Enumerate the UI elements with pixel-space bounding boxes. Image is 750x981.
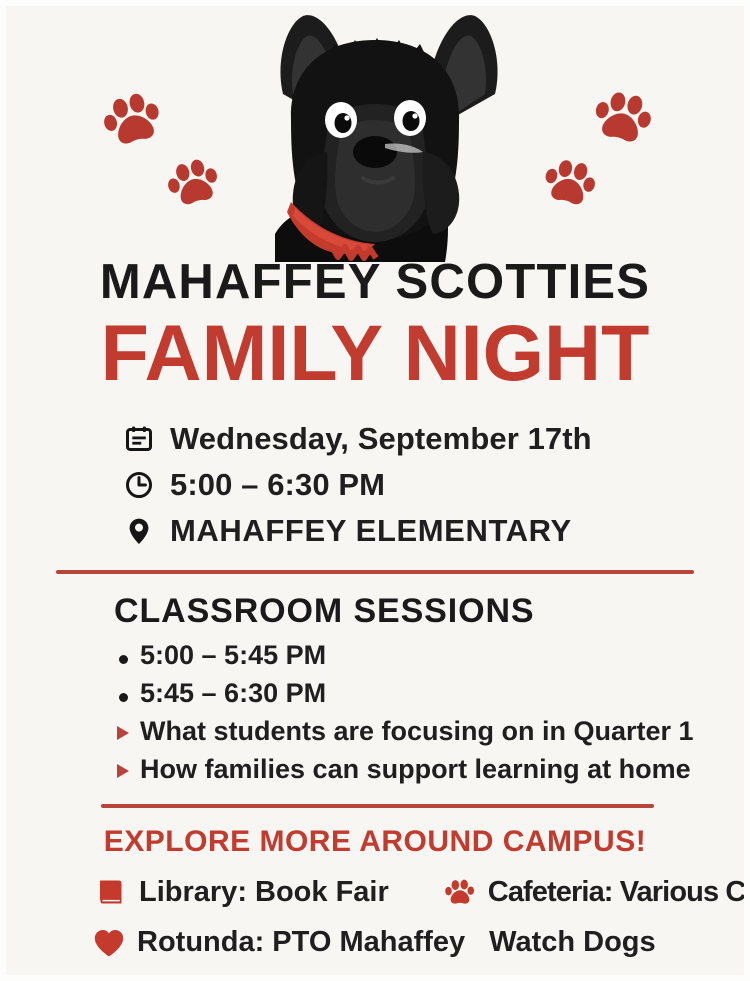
classroom-sessions-section: CLASSROOM SESSIONS 5:00 – 5:45 PM 5:45 –… <box>114 592 744 785</box>
event-location-text: MAHAFFEY ELEMENTARY <box>170 513 572 549</box>
explore-section: EXPLORE MORE AROUND CAMPUS! Library: Boo… <box>6 825 744 967</box>
list-item-session-time: 5:45 – 6:30 PM <box>114 678 744 709</box>
session-time-text: 5:00 – 5:45 PM <box>140 640 326 671</box>
list-item-session-time: 5:00 – 5:45 PM <box>114 640 744 671</box>
heart-icon <box>92 926 126 960</box>
triangle-bullet-icon <box>114 764 140 778</box>
sessions-heading: CLASSROOM SESSIONS <box>114 592 744 631</box>
explore-row-first: Library: Book Fair Cafeteria: Various <box>6 869 744 917</box>
session-topic-text: What students are focusing on in Quarter… <box>140 716 694 747</box>
explore-rows: Library: Book Fair Cafeteria: Various <box>6 869 744 967</box>
session-topic-text: How families can support learning at hom… <box>140 754 691 785</box>
event-time-text: 5:00 – 6:30 PM <box>170 467 385 503</box>
bullet-dot-icon <box>114 655 140 664</box>
calendar-icon <box>124 424 154 454</box>
explore-item-watch-dogs: Watch Dogs <box>489 926 655 959</box>
paw-print-icon <box>98 86 168 156</box>
divider-top <box>56 570 694 574</box>
explore-library-label: Library: Book Fair <box>139 876 389 909</box>
explore-heading: EXPLORE MORE AROUND CAMPUS! <box>6 825 744 859</box>
explore-watchdogs-label: Watch Dogs <box>489 926 655 959</box>
event-details-list: Wednesday, September 17th 5:00 – 6:30 PM… <box>124 416 744 554</box>
list-item-session-topic: How families can support learning at hom… <box>114 754 744 785</box>
divider-bottom <box>101 804 654 808</box>
bullet-dot-icon <box>114 693 140 702</box>
clock-icon <box>124 470 154 500</box>
paw-print-icon <box>162 152 225 215</box>
explore-item-rotunda: Rotunda: PTO Mahaffey <box>92 926 465 960</box>
detail-row-time: 5:00 – 6:30 PM <box>124 462 744 508</box>
paw-print-icon <box>588 84 658 154</box>
hero-illustration-area <box>6 6 744 256</box>
paw-print-icon <box>538 152 601 215</box>
triangle-bullet-icon <box>114 726 140 740</box>
explore-item-cafeteria: Cafeteria: Various Clubs <box>443 876 750 910</box>
page-title-event: FAMILY NIGHT <box>6 313 744 394</box>
detail-row-location: MAHAFFEY ELEMENTARY <box>124 508 744 554</box>
page-title-school: MAHAFFEY SCOTTIES <box>6 258 744 307</box>
map-pin-icon <box>124 516 154 546</box>
explore-row-second: Rotunda: PTO Mahaffey Watch Dogs <box>6 919 744 967</box>
scottie-dog-mascot-icon <box>235 2 515 262</box>
explore-rotunda-label: Rotunda: PTO Mahaffey <box>137 926 465 959</box>
event-date-text: Wednesday, September 17th <box>170 421 592 457</box>
list-item-session-topic: What students are focusing on in Quarter… <box>114 716 744 747</box>
family-night-flyer: MAHAFFEY SCOTTIES FAMILY NIGHT Wednesday… <box>0 0 750 981</box>
explore-item-library: Library: Book Fair <box>94 876 389 910</box>
paw-icon <box>443 876 477 910</box>
explore-cafeteria-label: Cafeteria: Various Clubs <box>488 876 750 909</box>
session-time-text: 5:45 – 6:30 PM <box>140 678 326 709</box>
title-block: MAHAFFEY SCOTTIES FAMILY NIGHT <box>6 258 744 394</box>
detail-row-date: Wednesday, September 17th <box>124 416 744 462</box>
book-icon <box>94 876 128 910</box>
